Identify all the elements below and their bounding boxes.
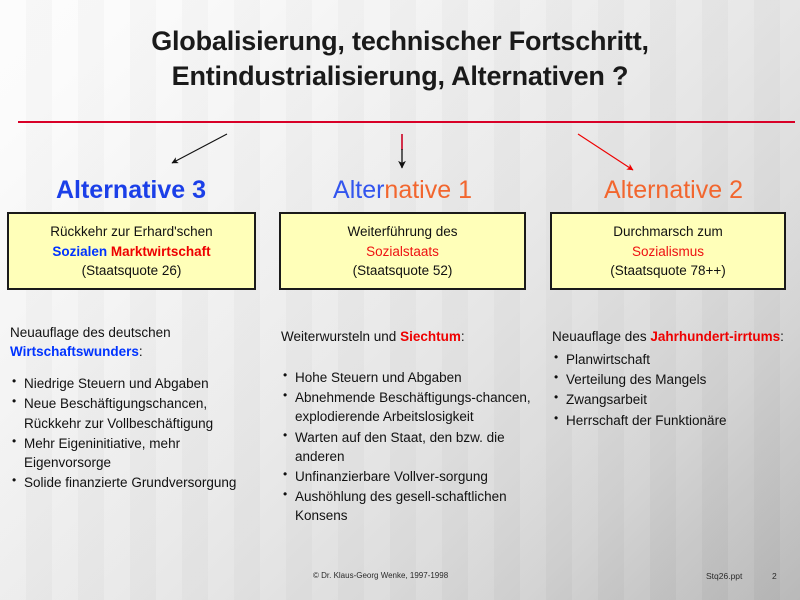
list-item: Planwirtschaft (552, 350, 794, 369)
column-alternative-1: Weiterwursteln und Siechtum: Hohe Steuer… (281, 327, 543, 526)
list-item: Hohe Steuern und Abgaben (281, 368, 543, 387)
heading-alternative-3-label: Alternative 3 (56, 176, 206, 204)
heading-alternative-3: Alternative 3 (6, 178, 256, 203)
list-item: Aushöhlung des gesell-schaftlichen Konse… (281, 487, 543, 525)
list-item: Abnehmende Beschäftigungs-chancen, explo… (281, 388, 543, 426)
column-2-lead-pre: Weiterwursteln und (281, 329, 400, 344)
title-line-1: Globalisierung, technischer Fortschritt, (0, 24, 800, 59)
column-1-lead-post: : (139, 344, 143, 359)
column-2-lead: Weiterwursteln und Siechtum: (281, 327, 543, 346)
column-alternative-3: Neuauflage des deutschen Wirtschaftswund… (10, 323, 260, 493)
box3-line-1: Durchmarsch zum (552, 222, 784, 242)
column-1-lead-highlight: Wirtschaftswunders (10, 344, 139, 359)
column-3-lead-pre: Neuauflage des (552, 329, 650, 344)
column-1-lead-pre: Neuauflage des deutschen (10, 325, 171, 340)
list-item: Unfinanzierbare Vollver-sorgung (281, 467, 543, 486)
column-2-lead-post: : (461, 329, 465, 344)
callout-box-alternative-3: Rückkehr zur Erhard'schen Sozialen Markt… (7, 212, 256, 290)
heading-alternative-2: Alternative 2 (550, 178, 797, 203)
list-item: Verteilung des Mangels (552, 370, 794, 389)
footer-filename: Stq26.ppt (706, 571, 742, 581)
title-line-2: Entindustrialisierung, Alternativen ? (0, 59, 800, 94)
arrow-to-alternative-2 (578, 134, 633, 170)
box1-line-3: (Staatsquote 26) (9, 261, 254, 281)
column-1-bullet-list: Niedrige Steuern und Abgaben Neue Beschä… (10, 374, 260, 492)
list-item: Niedrige Steuern und Abgaben (10, 374, 260, 393)
list-item: Warten auf den Staat, den bzw. die ander… (281, 428, 543, 466)
box3-line-3: (Staatsquote 78++) (552, 261, 784, 281)
column-3-bullet-list: Planwirtschaft Verteilung des Mangels Zw… (552, 350, 794, 430)
box2-line-1: Weiterführung des (281, 222, 524, 242)
list-item: Neue Beschäftigungschancen, Rückkehr zur… (10, 394, 260, 432)
box2-line-3: (Staatsquote 52) (281, 261, 524, 281)
column-2-lead-highlight: Siechtum (400, 329, 461, 344)
list-item: Solide finanzierte Grundversorgung (10, 473, 260, 492)
callout-box-alternative-2: Durchmarsch zum Sozialismus (Staatsquote… (550, 212, 786, 290)
heading-alternative-1: Alternative 1 (279, 178, 526, 203)
footer-page-number: 2 (772, 571, 777, 581)
heading-alternative-1-part-2: native 1 (384, 176, 472, 204)
box1-line-2-blue: Sozialen (52, 244, 107, 259)
heading-alternative-2-label: Alternative 2 (604, 176, 743, 204)
page-title: Globalisierung, technischer Fortschritt,… (0, 24, 800, 94)
column-alternative-2: Neuauflage des Jahrhundert-irrtums: Plan… (552, 327, 794, 431)
list-item: Herrschaft der Funktionäre (552, 411, 794, 430)
box1-line-2: Sozialen Marktwirtschaft (9, 242, 254, 262)
list-item: Mehr Eigeninitiative, mehr Eigenvorsorge (10, 434, 260, 472)
slide-canvas: Globalisierung, technischer Fortschritt,… (0, 0, 800, 600)
box1-line-1: Rückkehr zur Erhard'schen (9, 222, 254, 242)
heading-alternative-1-part-1: Alter (333, 176, 384, 204)
box1-line-2-red: Marktwirtschaft (111, 244, 211, 259)
column-2-bullet-list: Hohe Steuern und Abgaben Abnehmende Besc… (281, 368, 543, 525)
column-3-lead-highlight: Jahrhundert-irrtums (650, 329, 780, 344)
arrow-to-alternative-3 (172, 134, 227, 163)
column-3-lead-post: : (780, 329, 784, 344)
callout-box-alternative-1: Weiterführung des Sozialstaats (Staatsqu… (279, 212, 526, 290)
box3-line-2: Sozialismus (552, 242, 784, 262)
list-item: Zwangsarbeit (552, 390, 794, 409)
column-1-lead: Neuauflage des deutschen Wirtschaftswund… (10, 323, 260, 361)
column-3-lead: Neuauflage des Jahrhundert-irrtums: (552, 327, 794, 346)
box2-line-2: Sozialstaats (281, 242, 524, 262)
title-divider-rule (18, 121, 795, 123)
footer-copyright: © Dr. Klaus-Georg Wenke, 1997-1998 (313, 571, 448, 580)
